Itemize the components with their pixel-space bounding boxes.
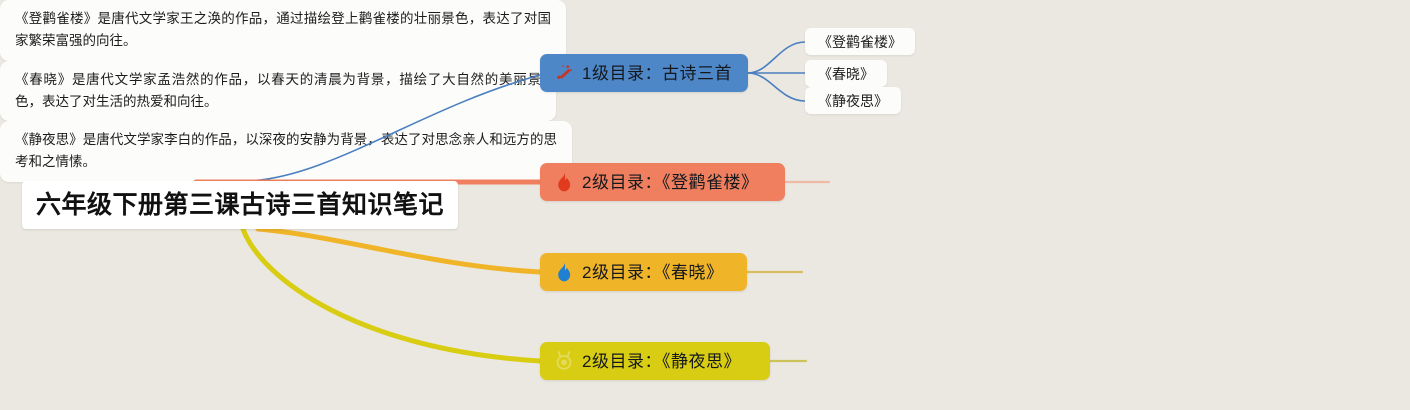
leaf-chip-jing-ye-si[interactable]: 《静夜思》 bbox=[805, 87, 901, 114]
blue-flame-icon bbox=[553, 261, 575, 283]
branch-node-1-label: 1级目录：古诗三首 bbox=[582, 65, 732, 82]
leaf-card-chun-xiao-description[interactable]: 《春晓》是唐代文学家孟浩然的作品，以春天的清晨为背景，描绘了大自然的美丽景色，表… bbox=[0, 61, 556, 122]
magic-wand-sparkle-icon bbox=[553, 62, 575, 84]
branch-node-2[interactable]: 2级目录：《登鹳雀楼》 bbox=[540, 163, 785, 201]
mindmap-canvas: 六年级下册第三课古诗三首知识笔记 1级目录：古诗三首 2级目录：《登鹳雀楼》 2… bbox=[0, 0, 1410, 410]
edge-branch-0-to-chip-0 bbox=[748, 42, 805, 73]
edge-root-to-branch-3 bbox=[243, 229, 540, 361]
branch-node-4[interactable]: 2级目录：《静夜思》 bbox=[540, 342, 770, 380]
root-node-label: 六年级下册第三课古诗三首知识笔记 bbox=[36, 193, 444, 218]
root-node[interactable]: 六年级下册第三课古诗三首知识笔记 bbox=[22, 181, 458, 229]
branch-node-3[interactable]: 2级目录：《春晓》 bbox=[540, 253, 747, 291]
leaf-chip-label: 《登鹳雀楼》 bbox=[818, 32, 902, 52]
leaf-chip-chun-xiao[interactable]: 《春晓》 bbox=[805, 60, 887, 87]
edge-root-to-branch-2 bbox=[258, 229, 540, 272]
flame-icon bbox=[553, 171, 575, 193]
leaf-chip-label: 《春晓》 bbox=[818, 64, 874, 84]
branch-node-4-label: 2级目录：《静夜思》 bbox=[582, 353, 741, 370]
leaf-card-deng-guan-que-lou-description[interactable]: 《登鹳雀楼》是唐代文学家王之涣的作品，通过描绘登上鹳雀楼的壮丽景色，表达了对国家… bbox=[0, 0, 566, 61]
branch-node-2-label: 2级目录：《登鹳雀楼》 bbox=[582, 174, 758, 191]
branch-node-1[interactable]: 1级目录：古诗三首 bbox=[540, 54, 748, 92]
leaf-chip-deng-guan-que-lou[interactable]: 《登鹳雀楼》 bbox=[805, 28, 915, 55]
branch-node-3-label: 2级目录：《春晓》 bbox=[582, 264, 723, 281]
leaf-chip-label: 《静夜思》 bbox=[818, 91, 888, 111]
leaf-card-jing-ye-si-description[interactable]: 《静夜思》是唐代文学家李白的作品，以深夜的安静为背景，表达了对思念亲人和远方的思… bbox=[0, 121, 572, 182]
edge-branch-0-to-chip-2 bbox=[748, 73, 805, 101]
medal-badge-icon bbox=[553, 350, 575, 372]
